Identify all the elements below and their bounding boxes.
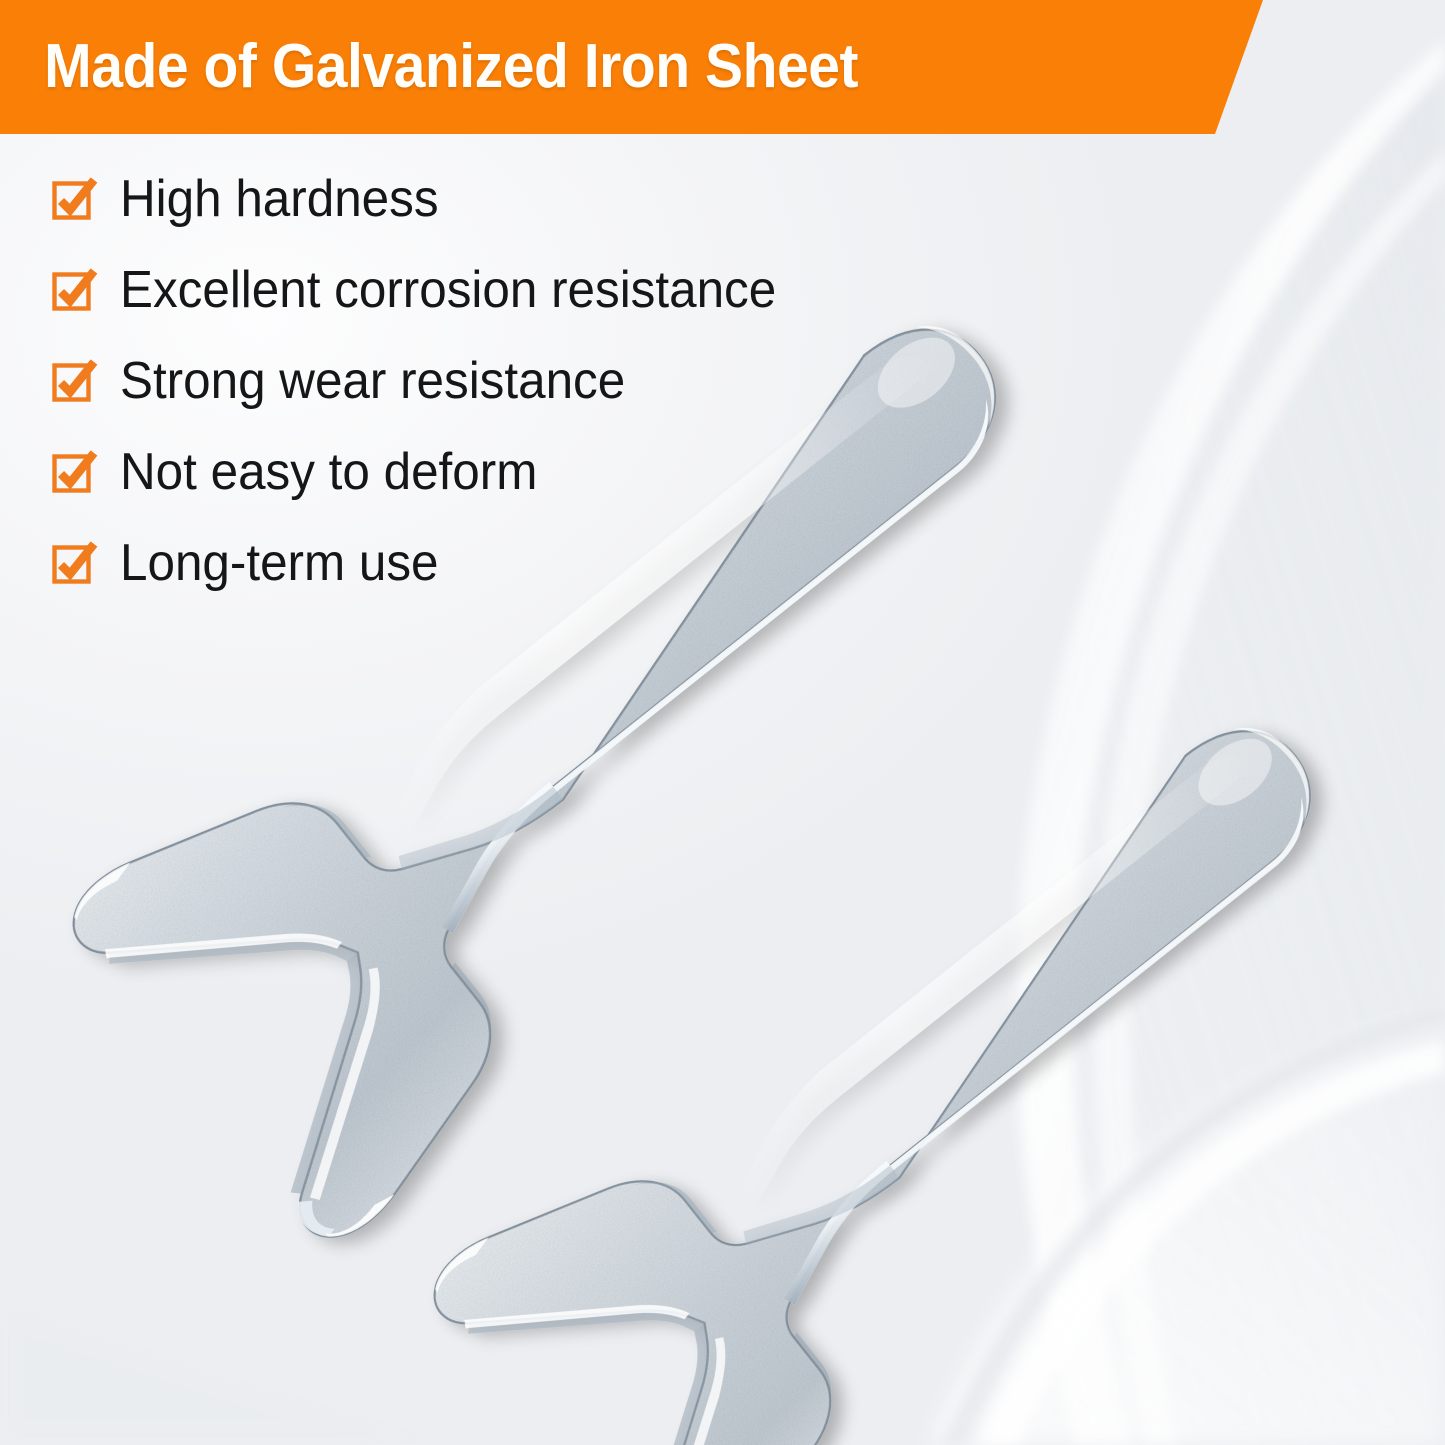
infographic-canvas: Made of Galvanized Iron Sheet High hardn… bbox=[0, 0, 1445, 1445]
large-open-end-wrench bbox=[57, 248, 1164, 1254]
product-image-wrench-pair bbox=[0, 0, 1445, 1445]
